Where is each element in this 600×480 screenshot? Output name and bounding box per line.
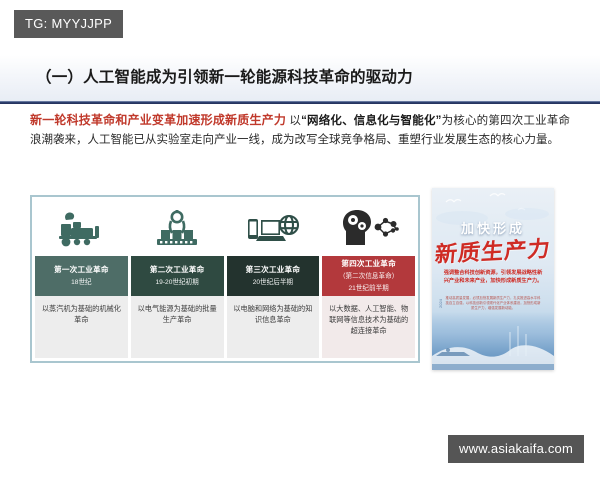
body-paragraph: 新一轮科技革命和产业变革加速形成新质生产力 以“网络化、信息化与智能化”为核心的…: [30, 111, 570, 150]
revolution-3-bar: 第三次工业革命 20世纪后半期: [227, 256, 320, 296]
poster-landscape: [432, 312, 554, 370]
revolution-1-desc: 以蒸汽机为基础的机械化革命: [35, 296, 128, 358]
revolution-4-period: （第二次信息革命）: [339, 271, 398, 282]
poster-fine-print: 推动高质量发展，必须加快发展新质生产力，扎实推进高水平科技自立自强，以科技创新引…: [444, 296, 542, 311]
page-title: （一）人工智能成为引领新一轮能源科技革命的驱动力: [36, 65, 413, 87]
tg-tag: TG: MYYJJPP: [14, 10, 123, 38]
revolution-column-2: 第二次工业革命 19-20世纪初期 以电气能源为基础的批量生产革命: [131, 200, 224, 358]
revolution-3-desc: 以电脑和网络为基础的知识信息革命: [227, 296, 320, 358]
steam-train-icon: [35, 200, 128, 256]
revolution-2-desc: 以电气能源为基础的批量生产革命: [131, 296, 224, 358]
brain-gears-network-icon: [322, 200, 415, 256]
paragraph-quoted: “网络化、信息化与智能化”: [301, 115, 441, 127]
poster-side-date: 2024: [438, 299, 443, 308]
revolution-4-desc: 以大数据、人工智能、物联网等信息技术为基础的超连接革命: [322, 296, 415, 358]
revolution-4-period2: 21世纪前半期: [348, 283, 388, 294]
watermark: www.asiakaifa.com: [448, 435, 584, 463]
revolution-1-title: 第一次工业革命: [54, 264, 109, 275]
revolution-1-period: 18世纪: [71, 277, 92, 288]
revolution-column-1: 第一次工业革命 18世纪 以蒸汽机为基础的机械化革命: [35, 200, 128, 358]
revolution-column-4: 第四次工业革命 （第二次信息革命） 21世纪前半期 以大数据、人工智能、物联网等…: [322, 200, 415, 358]
revolution-3-title: 第三次工业革命: [246, 264, 301, 275]
revolution-4-title: 第四次工业革命: [341, 258, 396, 269]
revolution-4-bar: 第四次工业革命 （第二次信息革命） 21世纪前半期: [322, 256, 415, 296]
revolution-3-period: 20世纪后半期: [253, 277, 293, 288]
industrial-revolutions-diagram: 第一次工业革命 18世纪 以蒸汽机为基础的机械化革命: [30, 195, 420, 363]
poster-image: 加快形成 新质生产力 强调整合科技创新资源，引领发展战略性新兴产业和未来产业，加…: [432, 188, 554, 370]
revolution-1-bar: 第一次工业革命 18世纪: [35, 256, 128, 296]
slide-canvas: （一）人工智能成为引领新一轮能源科技革命的驱动力 新一轮科技革命和产业变革加速形…: [0, 55, 600, 410]
factory-robot-arm-icon: [131, 200, 224, 256]
revolution-column-3: 第三次工业革命 20世纪后半期 以电脑和网络为基础的知识信息革命: [227, 200, 320, 358]
revolution-2-period: 19-20世纪初期: [156, 277, 199, 288]
computer-globe-icon: [227, 200, 320, 256]
revolution-2-title: 第二次工业革命: [150, 264, 205, 275]
poster-subtitle: 强调整合科技创新资源，引领发展战略性新兴产业和未来产业，加快形成新质生产力。: [442, 270, 544, 285]
paragraph-highlight: 新一轮科技革命和产业变革加速形成新质生产力: [30, 113, 286, 127]
revolution-2-bar: 第二次工业革命 19-20世纪初期: [131, 256, 224, 296]
paragraph-part1: 以: [286, 115, 301, 127]
title-divider: [0, 101, 600, 104]
poster-line2: 新质生产力: [432, 231, 554, 269]
